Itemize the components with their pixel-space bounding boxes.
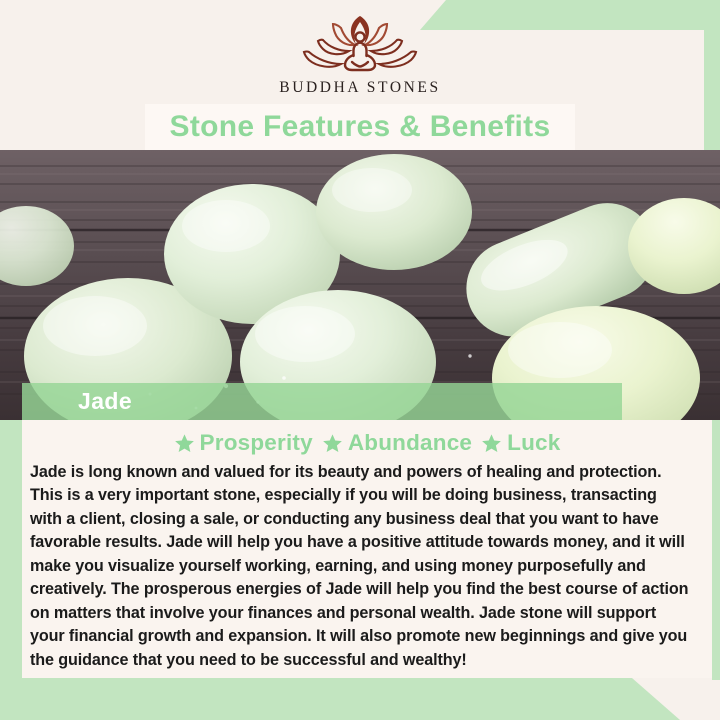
stone-description: Jade is long known and valued for its be… (26, 461, 698, 672)
stone-photo (0, 150, 720, 420)
stone-name-label: Jade (78, 388, 132, 415)
decor-bottom-band (0, 678, 720, 720)
benefit-label: Luck (507, 430, 560, 456)
decor-right-strip-lower (712, 432, 720, 680)
title-band: Stone Features & Benefits (145, 104, 575, 150)
benefit-item: Luck (481, 430, 560, 456)
benefit-label: Prosperity (200, 430, 313, 456)
star-icon (481, 433, 502, 454)
content-panel: Prosperity Abundance Luck Jade is long k… (22, 420, 712, 678)
lotus-meditation-icon (301, 14, 419, 76)
page-title: Stone Features & Benefits (170, 110, 551, 144)
star-icon (174, 433, 195, 454)
benefit-label: Abundance (348, 430, 472, 456)
benefits-row: Prosperity Abundance Luck (26, 426, 708, 460)
benefit-item: Abundance (322, 430, 472, 456)
stone-name-band: Jade (22, 383, 622, 420)
star-icon (322, 433, 343, 454)
stone-info-card: BUDDHA STONES (0, 0, 720, 720)
benefit-item: Prosperity (174, 430, 313, 456)
brand-name: BUDDHA STONES (279, 79, 440, 97)
